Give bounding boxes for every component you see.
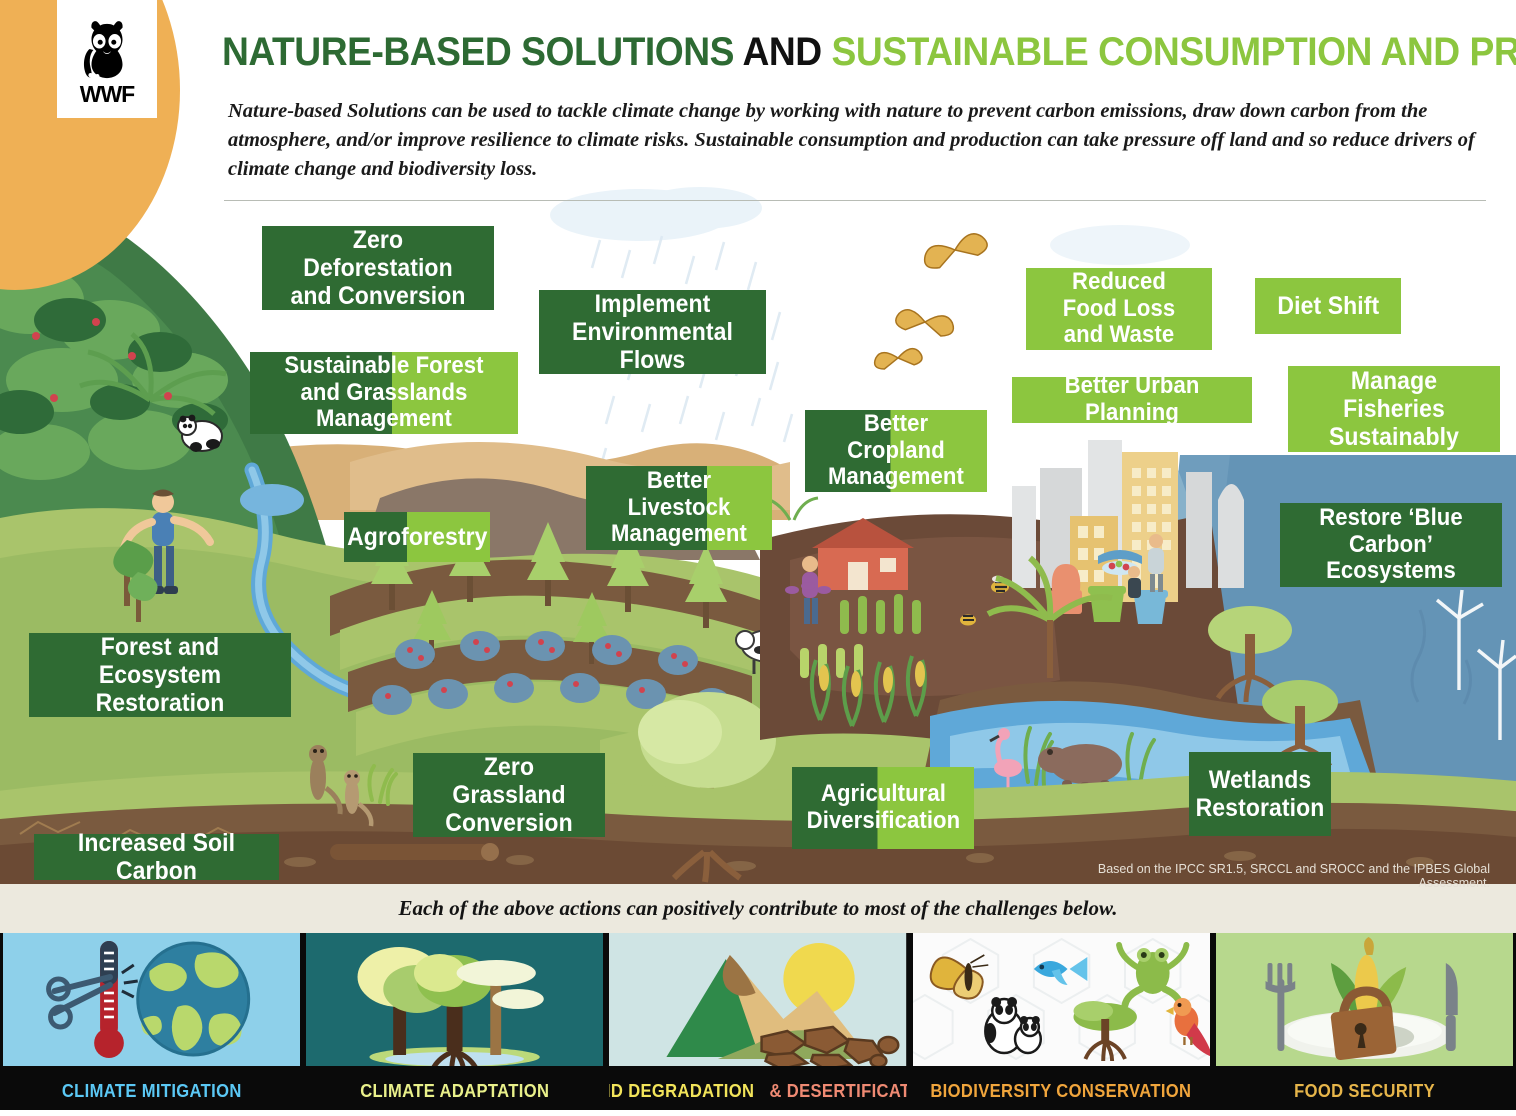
- panda-icon: [76, 13, 138, 85]
- challenge-label-text: FOOD SECURITY: [1294, 1081, 1435, 1102]
- solution-label-restore-blue-carbon[interactable]: Restore ‘Blue Carbon’ Ecosystems: [1280, 503, 1502, 587]
- mangrove-trees-icon: [306, 933, 603, 1066]
- solution-label-increased-soil-carbon[interactable]: Increased Soil Carbon: [34, 834, 279, 880]
- solution-label-text: Restore ‘Blue Carbon’ Ecosystems: [1300, 505, 1482, 586]
- bottom-white-strip: [0, 1110, 1516, 1116]
- solution-label-text: Increased Soil Carbon: [55, 829, 258, 885]
- challenge-climate-mitigation[interactable]: CLIMATE MITIGATION: [0, 933, 303, 1116]
- infographic-page: WWF NATURE-BASED SOLUTIONS AND SUSTAINAB…: [0, 0, 1516, 1116]
- land-degradation-label: LAND DEGRADATION & DESERTIFICATION: [609, 1066, 906, 1116]
- plate-lock-corn-icon: [1216, 933, 1513, 1066]
- challenge-label-text: CLIMATE ADAPTATION: [360, 1081, 549, 1102]
- mid-banner-text: Each of the above actions can positively…: [398, 896, 1117, 921]
- biodiversity-label: BIODIVERSITY CONSERVATION: [913, 1066, 1210, 1116]
- climate-adaptation-art: [306, 933, 603, 1066]
- solution-label-reduced-food-loss[interactable]: Reduced Food Loss and Waste: [1026, 268, 1212, 350]
- solution-label-text: Implement Environmental Flows: [559, 290, 746, 374]
- solution-label-text: Better Cropland Management: [823, 411, 968, 492]
- solution-label-better-livestock[interactable]: Better Livestock Management: [586, 466, 772, 550]
- solution-label-text: Zero Grassland Conversion: [432, 753, 587, 837]
- food-security-label: FOOD SECURITY: [1216, 1066, 1513, 1116]
- species-hexagons-icon: [913, 933, 1210, 1066]
- eroded-mountain-icon: [609, 933, 906, 1066]
- solution-label-text: Wetlands Restoration: [1196, 766, 1325, 822]
- solution-label-sustainable-forest[interactable]: Sustainable Forest and Grasslands Manage…: [250, 352, 518, 434]
- intro-paragraph: Nature-based Solutions can be used to ta…: [228, 97, 1486, 184]
- solution-label-text: Forest and Ecosystem Restoration: [51, 633, 270, 717]
- challenge-label-text: BIODIVERSITY CONSERVATION: [931, 1081, 1192, 1102]
- solution-label-text: Agroforestry: [347, 523, 487, 551]
- land-degradation-art: [609, 933, 906, 1066]
- solution-label-text: Zero Deforestation and Conversion: [282, 226, 473, 310]
- solution-label-zero-grassland-conversion[interactable]: Zero Grassland Conversion: [413, 753, 605, 837]
- page-title: NATURE-BASED SOLUTIONS AND SUSTAINABLE C…: [222, 30, 1403, 75]
- solution-label-agricultural-diversification[interactable]: Agricultural Diversification: [792, 767, 974, 849]
- biodiversity-art: [913, 933, 1210, 1066]
- challenges-row: CLIMATE MITIGATION: [0, 933, 1516, 1116]
- solution-label-text: Better Livestock Management: [604, 468, 753, 549]
- challenge-food-security[interactable]: FOOD SECURITY: [1213, 933, 1516, 1116]
- solution-label-implement-environmental-flows[interactable]: Implement Environmental Flows: [539, 290, 766, 374]
- title-part-1: NATURE-BASED SOLUTIONS: [222, 30, 742, 74]
- wwf-wordmark: WWF: [80, 83, 134, 106]
- solution-label-text: Reduced Food Loss and Waste: [1044, 269, 1193, 350]
- farmer-illustration: [802, 556, 818, 624]
- attribution-text: Based on the IPCC SR1.5, SRCCL and SROCC…: [1050, 862, 1490, 890]
- solution-label-wetlands-restoration[interactable]: Wetlands Restoration: [1189, 752, 1331, 836]
- challenge-label-text: LAND DEGRADATION: [606, 1081, 754, 1102]
- title-part-2: AND: [742, 30, 831, 74]
- wwf-logo: WWF: [57, 0, 157, 118]
- climate-mitigation-art: [3, 933, 300, 1066]
- solution-label-manage-fisheries[interactable]: Manage Fisheries Sustainably: [1288, 366, 1500, 452]
- solution-label-better-urban-planning[interactable]: Better Urban Planning: [1012, 377, 1252, 423]
- challenge-climate-adaptation[interactable]: CLIMATE ADAPTATION: [303, 933, 606, 1116]
- climate-mitigation-label: CLIMATE MITIGATION: [3, 1066, 300, 1116]
- challenge-land-degradation[interactable]: LAND DEGRADATION & DESERTIFICATION: [606, 933, 909, 1116]
- scissors-thermometer-globe-icon: [3, 933, 300, 1066]
- solution-label-text: Better Urban Planning: [1033, 373, 1232, 427]
- solution-label-text: Agricultural Diversification: [806, 781, 960, 835]
- challenge-label-text: CLIMATE MITIGATION: [62, 1081, 242, 1102]
- climate-adaptation-label: CLIMATE ADAPTATION: [306, 1066, 603, 1116]
- mid-banner: Each of the above actions can positively…: [0, 884, 1516, 933]
- solution-label-diet-shift[interactable]: Diet Shift: [1255, 278, 1401, 334]
- challenge-label-text-2: & DESERTIFICATION: [769, 1081, 909, 1102]
- solution-label-text: Sustainable Forest and Grasslands Manage…: [272, 353, 496, 434]
- food-security-art: [1216, 933, 1513, 1066]
- solution-label-agroforestry[interactable]: Agroforestry: [344, 512, 490, 562]
- solution-label-better-cropland[interactable]: Better Cropland Management: [805, 410, 987, 492]
- solution-label-forest-ecosystem-restoration[interactable]: Forest and Ecosystem Restoration: [29, 633, 291, 717]
- title-part-3: SUSTAINABLE CONSUMPTION AND PRODUCTION: [832, 30, 1516, 74]
- header-divider: [224, 200, 1486, 201]
- challenge-biodiversity-conservation[interactable]: BIODIVERSITY CONSERVATION: [910, 933, 1213, 1116]
- solution-label-zero-deforestation[interactable]: Zero Deforestation and Conversion: [262, 226, 494, 310]
- solution-label-text: Diet Shift: [1277, 292, 1379, 320]
- solution-label-text: Manage Fisheries Sustainably: [1308, 367, 1481, 451]
